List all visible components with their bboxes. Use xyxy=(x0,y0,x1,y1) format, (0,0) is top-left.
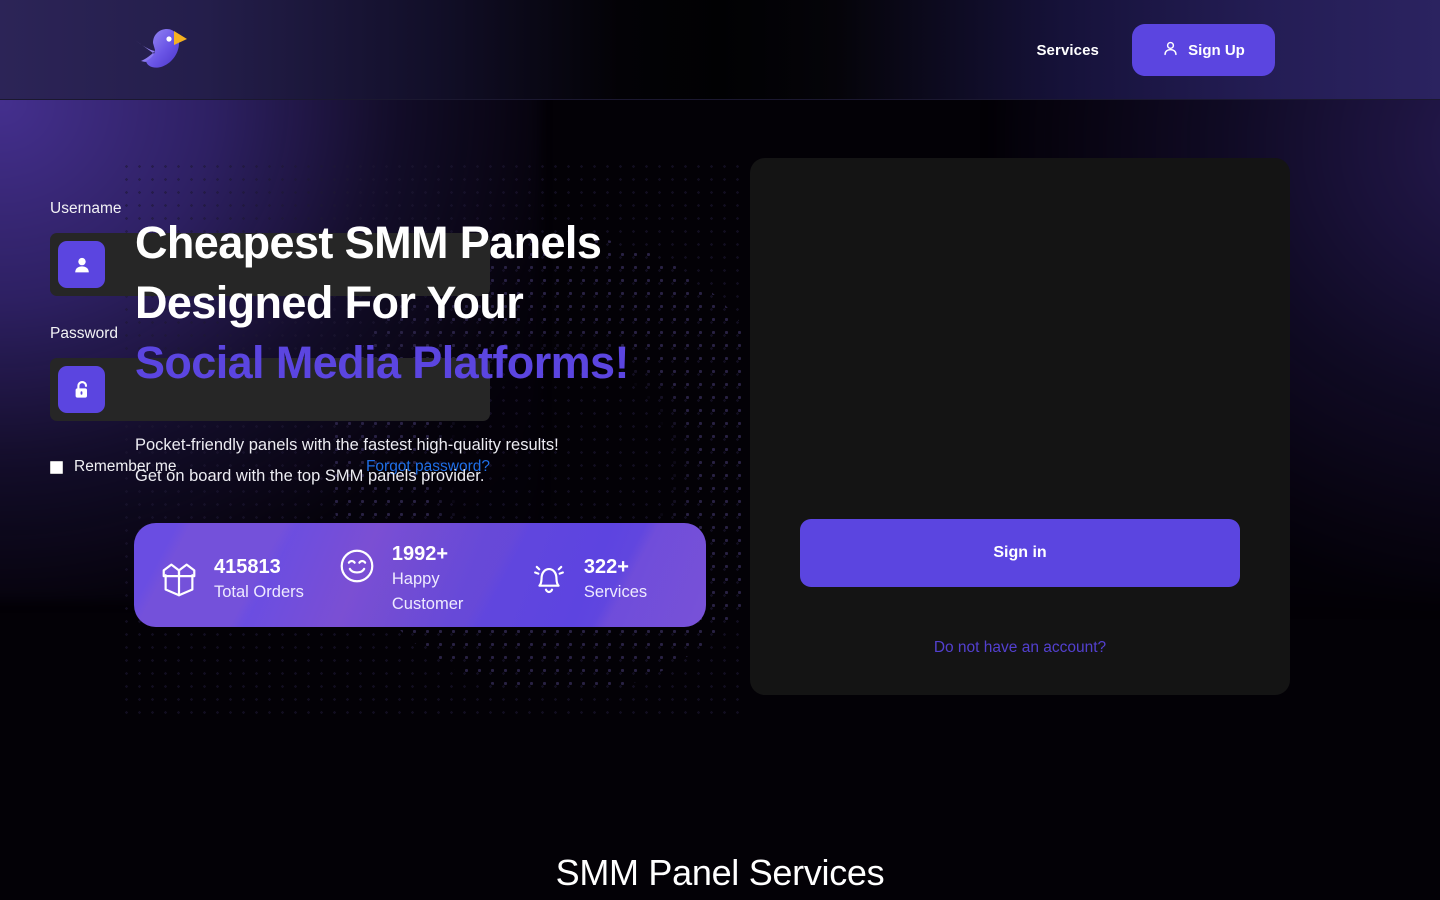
username-label: Username xyxy=(50,200,122,218)
site-header: Services API Sign in Sign Up xyxy=(0,0,1440,100)
stat-item-services: 322+ Services xyxy=(528,546,647,605)
sign-up-button[interactable]: Sign Up xyxy=(1132,24,1275,76)
services-section: SMM Panel Services xyxy=(0,800,1440,900)
login-card xyxy=(750,158,1290,695)
unlock-icon xyxy=(58,366,105,413)
sign-in-button[interactable]: Sign in xyxy=(800,519,1240,587)
stat-label: Total Orders xyxy=(214,580,304,605)
user-icon xyxy=(58,241,105,288)
stats-bar: 415813 Total Orders 1992+ Happy Customer xyxy=(134,523,706,627)
stat-item-happy-customer: 1992+ Happy Customer xyxy=(336,533,496,617)
user-icon xyxy=(1162,40,1179,61)
page-title: Cheapest SMM Panels Designed For Your So… xyxy=(135,213,735,393)
stat-label: Happy Customer xyxy=(392,567,496,617)
services-section-heading: SMM Panel Services xyxy=(0,852,1440,894)
bell-icon xyxy=(528,558,570,600)
hero-subtitle: Pocket-friendly panels with the fastest … xyxy=(135,430,735,492)
hero-subtitle-line-2: Get on board with the top SMM panels pro… xyxy=(135,467,484,485)
remember-me-checkbox[interactable] xyxy=(50,461,63,474)
smiley-face-icon xyxy=(336,545,378,587)
headline-accent-line: Social Media Platforms! xyxy=(135,333,735,393)
no-account-link[interactable]: Do not have an account? xyxy=(750,639,1290,657)
nav-item-services[interactable]: Services xyxy=(1036,42,1099,59)
stat-label: Services xyxy=(584,580,647,605)
bird-logo-icon[interactable] xyxy=(133,26,191,76)
headline-line-2: Designed For Your xyxy=(135,277,523,328)
stat-item-total-orders: 415813 Total Orders xyxy=(158,546,304,605)
stat-value: 322+ xyxy=(584,556,629,578)
stat-value: 1992+ xyxy=(392,543,448,565)
landing-page: Services API Sign in Sign Up Cheapest SM… xyxy=(0,0,1440,900)
hero-copy: Cheapest SMM Panels Designed For Your So… xyxy=(135,213,735,492)
headline-line-1: Cheapest SMM Panels xyxy=(135,217,601,268)
password-label: Password xyxy=(50,325,118,343)
hero-subtitle-line-1: Pocket-friendly panels with the fastest … xyxy=(135,436,559,454)
sign-up-label: Sign Up xyxy=(1188,42,1245,59)
stat-value: 415813 xyxy=(214,556,281,578)
open-box-icon xyxy=(158,558,200,600)
